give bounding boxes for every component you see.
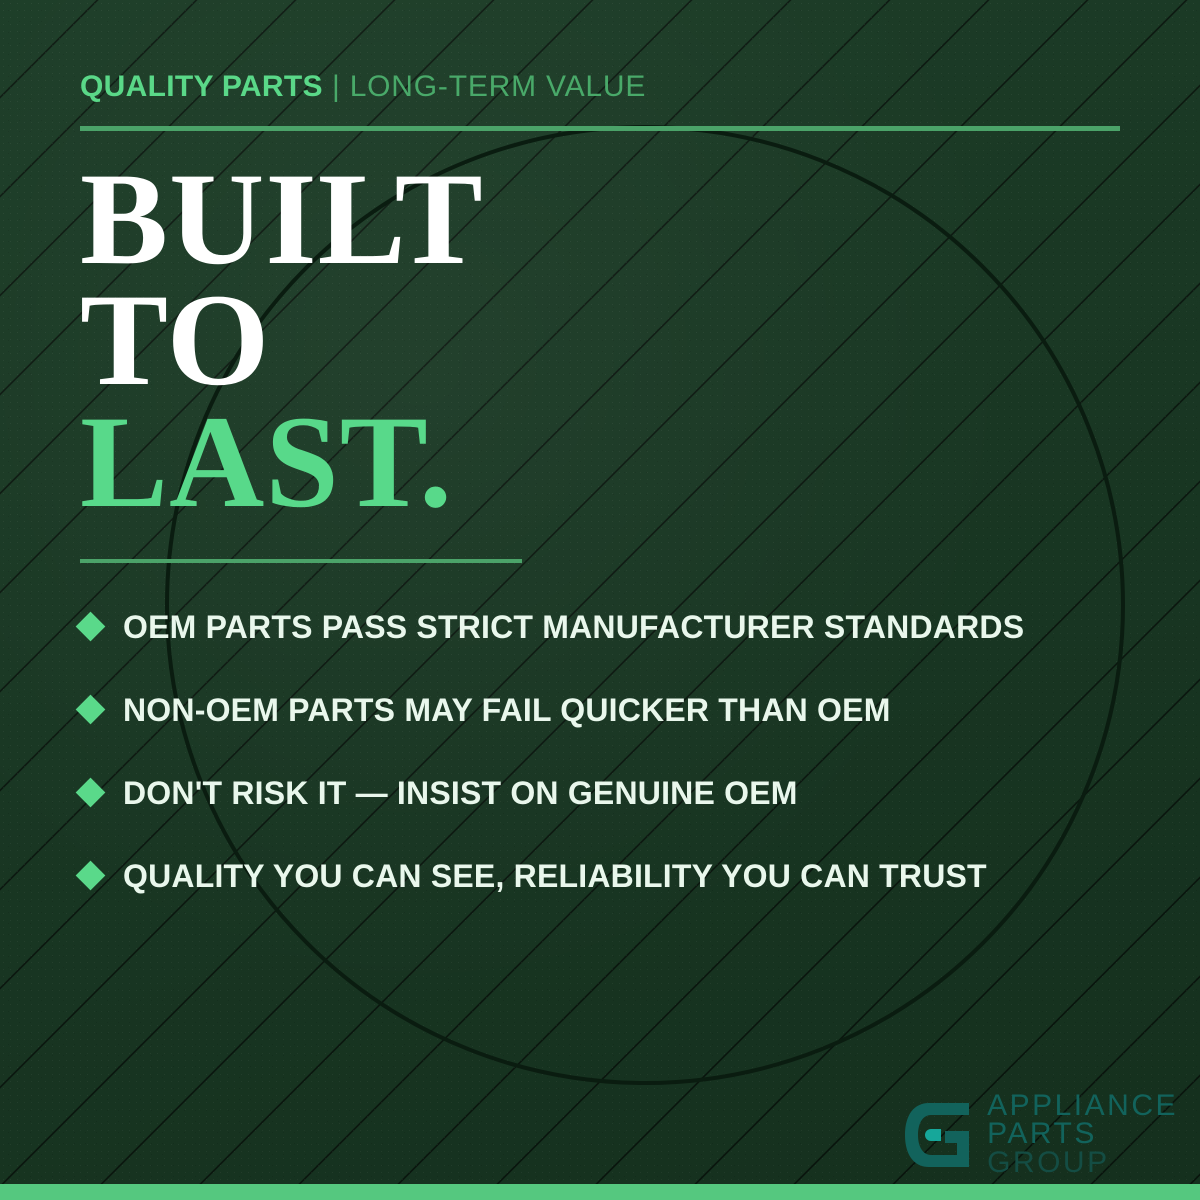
headline-line-3: LAST. [80,401,484,522]
header-divider-rule [80,126,1120,131]
benefits-list: OEM PARTS PASS STRICT MANUFACTURER STAND… [80,585,1150,917]
kicker-separator: | [323,70,350,103]
diamond-bullet-icon [76,861,106,891]
list-item: DON'T RISK IT — INSIST ON GENUINE OEM [80,751,1150,834]
brand-logo: APPLIANCE PARTS GROUP [901,1092,1178,1178]
g-monogram-icon [901,1099,973,1171]
headline-line-2: TO [80,279,484,400]
list-item-label: OEM PARTS PASS STRICT MANUFACTURER STAND… [123,611,1024,643]
poster-content: QUALITY PARTS | LONG-TERM VALUE BUILT TO… [0,0,1200,1200]
page-title: BUILT TO LAST. [80,158,484,522]
brand-logo-wordmark: APPLIANCE PARTS GROUP [987,1092,1178,1178]
poster-canvas: QUALITY PARTS | LONG-TERM VALUE BUILT TO… [0,0,1200,1200]
list-item-label: DON'T RISK IT — INSIST ON GENUINE OEM [123,777,798,809]
kicker-light-text: LONG-TERM VALUE [350,70,647,103]
headline-line-1: BUILT [80,158,484,279]
list-item: QUALITY YOU CAN SEE, RELIABILITY YOU CAN… [80,834,1150,917]
logo-line-1: APPLIANCE [987,1092,1178,1121]
logo-line-2: PARTS [987,1120,1178,1149]
diamond-bullet-icon [76,778,106,808]
diamond-bullet-icon [76,695,106,725]
list-item: NON-OEM PARTS MAY FAIL QUICKER THAN OEM [80,668,1150,751]
list-item: OEM PARTS PASS STRICT MANUFACTURER STAND… [80,585,1150,668]
logo-line-3: GROUP [987,1149,1178,1178]
kicker-strong-text: QUALITY PARTS [80,70,323,103]
bottom-accent-bar [0,1184,1200,1200]
list-item-label: QUALITY YOU CAN SEE, RELIABILITY YOU CAN… [123,860,987,892]
list-item-label: NON-OEM PARTS MAY FAIL QUICKER THAN OEM [123,694,891,726]
kicker-line: QUALITY PARTS | LONG-TERM VALUE [80,72,646,102]
diamond-bullet-icon [76,612,106,642]
headline-divider-rule [80,559,522,563]
